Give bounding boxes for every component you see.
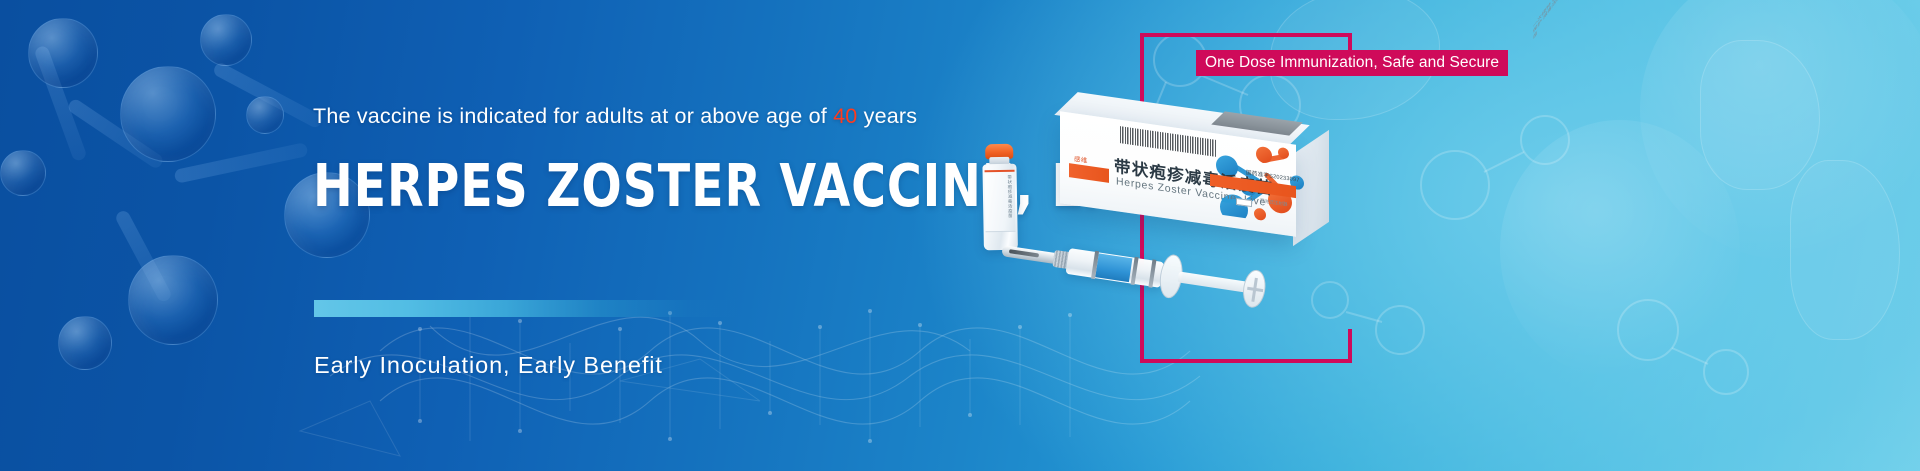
promotional-banner: The vaccine is indicated for adults at o… (0, 0, 1920, 471)
status-badge: One Dose Immunization, Safe and Secure (1196, 50, 1508, 76)
molecule-bond (212, 61, 325, 130)
lab-background-blob (1500, 120, 1740, 380)
product-image-group: 带状疱疹减毒活疫苗 一次接种 长效保护 减毒活疫苗 感维 (940, 120, 1360, 320)
syringe-plunger (1177, 271, 1252, 293)
molecule-sphere (0, 150, 46, 196)
indication-suffix: years (857, 104, 917, 128)
molecule-sphere (128, 255, 218, 345)
indication-subline: The vaccine is indicated for adults at o… (313, 104, 917, 129)
molecule-node (1256, 146, 1272, 164)
molecule-sphere (58, 316, 112, 370)
molecule-sphere (200, 14, 252, 66)
title-divider (314, 300, 739, 317)
carton-side-text: 一次接种 长效保护 减毒活疫苗 (1533, 0, 1563, 41)
lab-background-blob (1640, 0, 1920, 260)
vial-label: 带状疱疹减毒活疫苗 (985, 170, 1016, 233)
molecule-sphere (28, 18, 98, 88)
indication-age-value: 40 (833, 104, 857, 128)
molecule-sphere (120, 66, 216, 162)
tagline-text: Early Inoculation, Early Benefit (314, 352, 663, 379)
vaccine-carton-icon: 一次接种 长效保护 减毒活疫苗 感维 带状疱疹减毒活疫苗 (1060, 128, 1320, 253)
lab-glassware-shape (1790, 160, 1900, 340)
indication-prefix: The vaccine is indicated for adults at o… (313, 104, 833, 128)
molecule-bond (114, 209, 173, 304)
molecule-node (1254, 207, 1266, 221)
molecule-bond (66, 97, 165, 170)
syringe-fluid (1095, 253, 1132, 282)
molecule-sphere (246, 96, 284, 134)
lab-glassware-shape (1700, 40, 1820, 190)
molecule-bond (174, 142, 309, 184)
syringe-needle-cap (1001, 245, 1058, 264)
molecule-bond (33, 45, 87, 163)
syringe-thumb-rest (1241, 268, 1268, 309)
